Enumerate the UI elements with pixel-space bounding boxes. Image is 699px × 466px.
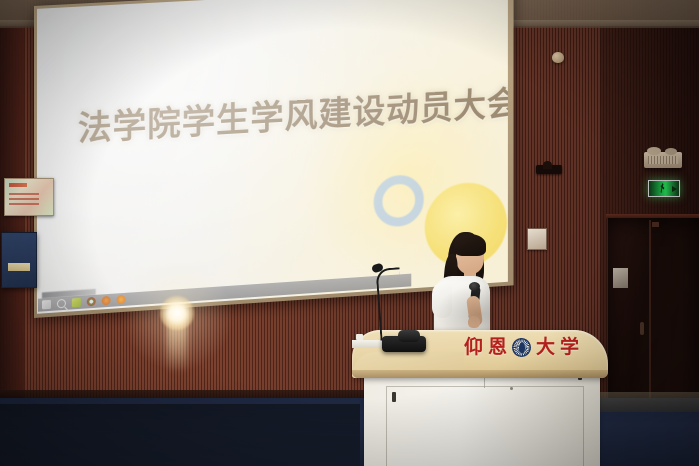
podium-front-panel — [386, 386, 584, 466]
door-handle[interactable] — [640, 322, 644, 335]
floor-threshold-strip — [600, 392, 699, 412]
wall-notice-board — [1, 232, 37, 288]
start-icon[interactable] — [42, 300, 51, 310]
podium-top-edge — [352, 370, 608, 378]
podium-char-4: 学 — [560, 338, 579, 357]
door-center-seam — [649, 220, 651, 420]
slide-title: 法学院学生学风建设动员大会 — [78, 76, 508, 150]
emergency-exit-sign — [648, 180, 680, 197]
blue-ring-decoration — [374, 174, 424, 228]
microphone-base-top — [398, 330, 420, 342]
door-notice — [613, 268, 628, 288]
podium-hinge — [392, 392, 396, 402]
arrow-right-icon — [672, 186, 677, 192]
speaker-grill — [648, 156, 678, 164]
chrome-icon[interactable] — [87, 297, 96, 307]
orange-app-2-icon[interactable] — [117, 295, 126, 305]
podium-char-2: 恩 — [488, 338, 507, 357]
wall-dome-fixture-icon — [552, 52, 564, 63]
search-icon[interactable] — [57, 299, 66, 309]
podium-screw — [510, 387, 513, 390]
floor-uplight-lamp — [160, 296, 194, 330]
podium-char-3: 大 — [536, 338, 555, 357]
podium-institution-name: 仰 恩 大 学 — [464, 338, 579, 357]
notice-board-label — [8, 263, 30, 271]
sleeve — [432, 282, 452, 318]
university-emblem-icon — [512, 338, 531, 357]
door-top-plate — [652, 222, 659, 227]
mail-icon[interactable] — [72, 298, 81, 308]
ceiling-speaker — [644, 152, 682, 168]
wall-mount-bracket — [536, 165, 562, 174]
microphone-head — [469, 282, 480, 291]
lecture-hall-photo: 法学院学生学风建设动员大会 — [0, 0, 699, 466]
exit-sign-face — [649, 181, 679, 196]
hair-front — [454, 234, 486, 256]
podium-char-1: 仰 — [464, 338, 483, 357]
orange-app-icon[interactable] — [102, 296, 111, 306]
presenter — [424, 230, 500, 340]
tray-item — [356, 334, 363, 340]
podium-side-tray — [352, 340, 382, 348]
wall-notice — [527, 228, 547, 250]
wall-banner-poster — [4, 178, 54, 216]
hand — [468, 316, 480, 328]
floor-shadow-area — [0, 404, 360, 466]
running-figure-icon — [660, 183, 665, 193]
